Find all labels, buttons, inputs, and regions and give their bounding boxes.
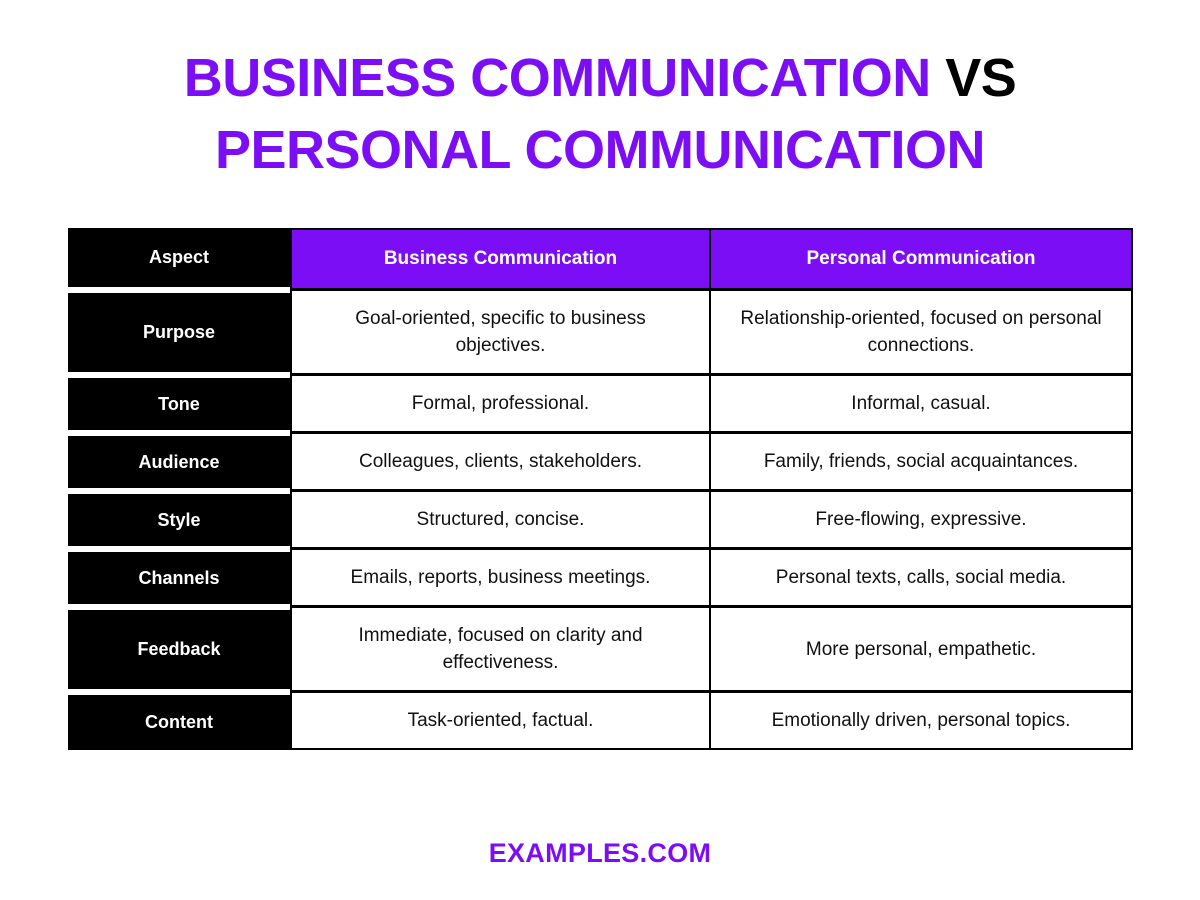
cell-business-tone: Formal, professional. [290, 375, 710, 433]
table-row: Audience Colleagues, clients, stakeholde… [68, 433, 1133, 491]
table-row: Tone Formal, professional. Informal, cas… [68, 375, 1133, 433]
cell-business-purpose: Goal-oriented, specific to business obje… [290, 290, 710, 375]
cell-business-audience: Colleagues, clients, stakeholders. [290, 433, 710, 491]
table-row: Purpose Goal-oriented, specific to busin… [68, 290, 1133, 375]
row-label-feedback: Feedback [68, 607, 290, 692]
title-line-1: BUSINESS COMMUNICATION VS [0, 42, 1200, 114]
footer: EXAMPLES.COM [0, 838, 1200, 869]
cell-business-feedback: Immediate, focused on clarity and effect… [290, 607, 710, 692]
title-part-business-communication: BUSINESS COMMUNICATION [184, 48, 931, 108]
table-row: Content Task-oriented, factual. Emotiona… [68, 692, 1133, 750]
cell-personal-purpose: Relationship-oriented, focused on person… [710, 290, 1133, 375]
row-label-style: Style [68, 491, 290, 549]
header-cell-personal-communication: Personal Communication [710, 228, 1133, 290]
title-part-vs: VS [945, 48, 1016, 108]
row-label-content: Content [68, 692, 290, 750]
cell-personal-audience: Family, friends, social acquaintances. [710, 433, 1133, 491]
row-label-channels: Channels [68, 549, 290, 607]
cell-personal-channels: Personal texts, calls, social media. [710, 549, 1133, 607]
page-title: BUSINESS COMMUNICATION VS PERSONAL COMMU… [0, 0, 1200, 186]
title-line-2: PERSONAL COMMUNICATION [0, 114, 1200, 186]
cell-personal-feedback: More personal, empathetic. [710, 607, 1133, 692]
row-label-audience: Audience [68, 433, 290, 491]
brand-watermark: EXAMPLES.COM [489, 838, 712, 868]
cell-business-content: Task-oriented, factual. [290, 692, 710, 750]
row-label-purpose: Purpose [68, 290, 290, 375]
table-row: Style Structured, concise. Free-flowing,… [68, 491, 1133, 549]
row-label-tone: Tone [68, 375, 290, 433]
table-header-row: Aspect Business Communication Personal C… [68, 228, 1133, 290]
cell-business-style: Structured, concise. [290, 491, 710, 549]
cell-business-channels: Emails, reports, business meetings. [290, 549, 710, 607]
header-cell-aspect: Aspect [68, 228, 290, 290]
comparison-table-container: Aspect Business Communication Personal C… [68, 228, 1133, 750]
table-row: Channels Emails, reports, business meeti… [68, 549, 1133, 607]
cell-personal-style: Free-flowing, expressive. [710, 491, 1133, 549]
cell-personal-content: Emotionally driven, personal topics. [710, 692, 1133, 750]
header-cell-business-communication: Business Communication [290, 228, 710, 290]
cell-personal-tone: Informal, casual. [710, 375, 1133, 433]
table-row: Feedback Immediate, focused on clarity a… [68, 607, 1133, 692]
comparison-table: Aspect Business Communication Personal C… [68, 228, 1133, 750]
